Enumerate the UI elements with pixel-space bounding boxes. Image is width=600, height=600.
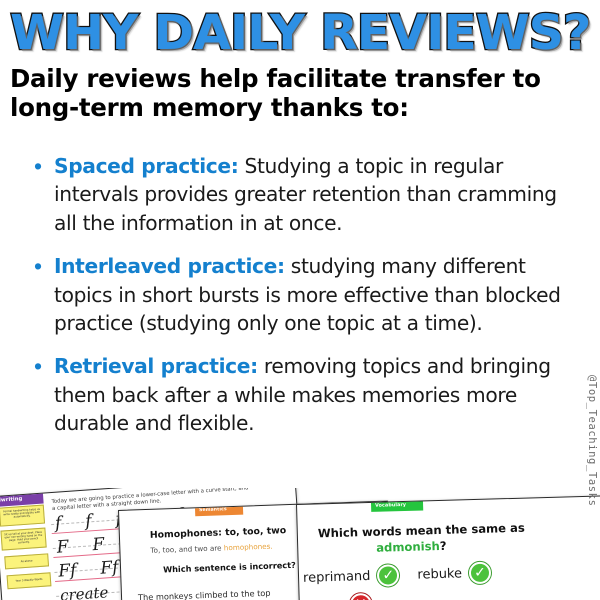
list-item: • Interleaved practice: studying many di… [34,252,582,337]
vocabulary-question-line1: Which words mean the same as [318,518,600,542]
vocabulary-option-label: rebuke [417,566,462,582]
card-tab-vocabulary: Vocabulary [371,499,423,511]
vocabulary-option[interactable]: reprimand ✓ [303,564,400,589]
list-item: • Retrieval practice: removing topics an… [34,352,582,437]
worksheet-card-vocabulary: Vocabulary Which words mean the same as … [296,495,600,600]
handwriting-glyph: F [92,533,105,556]
check-circle-icon: ✓ [469,562,492,585]
worksheet-strip: Handwriting Formal handwriting helps us … [0,488,600,600]
homophones-subtext-highlight: homophones. [224,542,273,553]
handwriting-glyph: Ff [58,559,78,582]
sticky-note: As above [4,553,49,569]
check-circle-icon: ✓ [377,564,400,587]
vocabulary-target-word: admonish [376,539,440,555]
handwriting-glyph: f [54,512,62,534]
vocabulary-option[interactable]: ✕ [350,593,373,600]
page-title: WHY DAILY REVIEWS? [10,4,592,62]
page-title-text: WHY DAILY REVIEWS? [10,7,590,59]
bullet-body: Retrieval practice: removing topics and … [54,352,582,437]
handwriting-glyph: Ff [100,557,120,580]
bullet-lead: Retrieval practice: [54,354,258,378]
bullet-list: • Spaced practice: Studying a topic in r… [34,152,582,453]
list-item: • Spaced practice: Studying a topic in r… [34,152,582,237]
sticky-note: Year 3 Weekly Words [7,572,52,589]
watermark: @Top_Teaching_Tasks [586,375,598,507]
vocabulary-option[interactable]: rebuke ✓ [417,562,491,586]
homophones-subtext-plain: To, too, and two are [150,543,224,555]
vocabulary-option-label: reprimand [303,568,371,585]
page-subtitle: Daily reviews help facilitate transfer t… [10,64,594,122]
vocabulary-question-mark: ? [440,539,447,553]
slide-canvas: WHY DAILY REVIEWS? Daily reviews help fa… [0,0,600,600]
bullet-point-icon: • [34,152,54,180]
bullet-point-icon: • [34,252,54,280]
bullet-body: Spaced practice: Studying a topic in reg… [54,152,582,237]
handwriting-glyph: F [56,536,69,559]
bullet-lead: Spaced practice: [54,154,238,178]
vocabulary-question-word: admonish? [376,539,447,555]
handwriting-word: create [59,581,109,600]
bullet-lead: Interleaved practice: [54,254,285,278]
sticky-note: Sit up tall at your desk. Place your non… [0,527,46,550]
sticky-note: Formal handwriting helps us write neatly… [0,505,45,527]
bullet-point-icon: • [34,352,54,380]
bullet-body: Interleaved practice: studying many diff… [54,252,582,337]
vocabulary-options-row-2: ✕ [350,593,373,600]
cross-circle-icon: ✕ [350,593,373,600]
vocabulary-options-row: reprimand ✓ rebuke ✓ [303,558,600,589]
handwriting-glyph: f [85,510,93,532]
